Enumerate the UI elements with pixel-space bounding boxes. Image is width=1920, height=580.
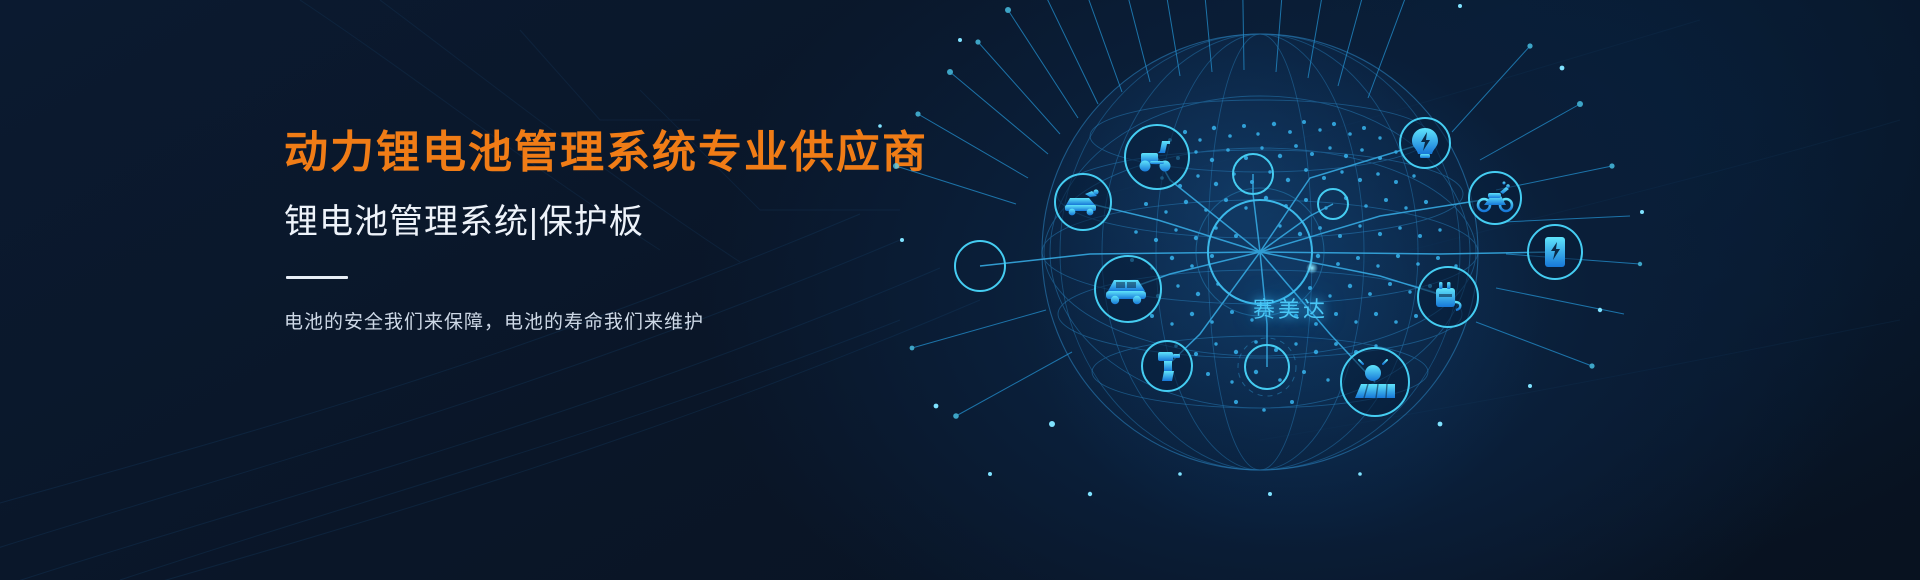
scooter-icon: [1125, 125, 1189, 189]
hero-banner: 动力锂电池管理系统专业供应商 锂电池管理系统|保护板 电池的安全我们来保障，电池…: [0, 0, 1920, 580]
car-icon: [1095, 256, 1161, 322]
plug-icon: [1418, 267, 1478, 327]
drill-icon: [1142, 341, 1192, 391]
brand-center-label: 赛美达: [1253, 292, 1328, 324]
delivery-car-icon: [1055, 174, 1111, 230]
network-globe-illustration: [840, 0, 1780, 580]
lightbulb-icon: [1400, 118, 1450, 168]
motorcycle-icon: [1469, 172, 1521, 224]
divider-rule: [286, 276, 348, 279]
battery-icon: [1528, 225, 1582, 279]
solar-panel-icon: [1341, 348, 1409, 416]
